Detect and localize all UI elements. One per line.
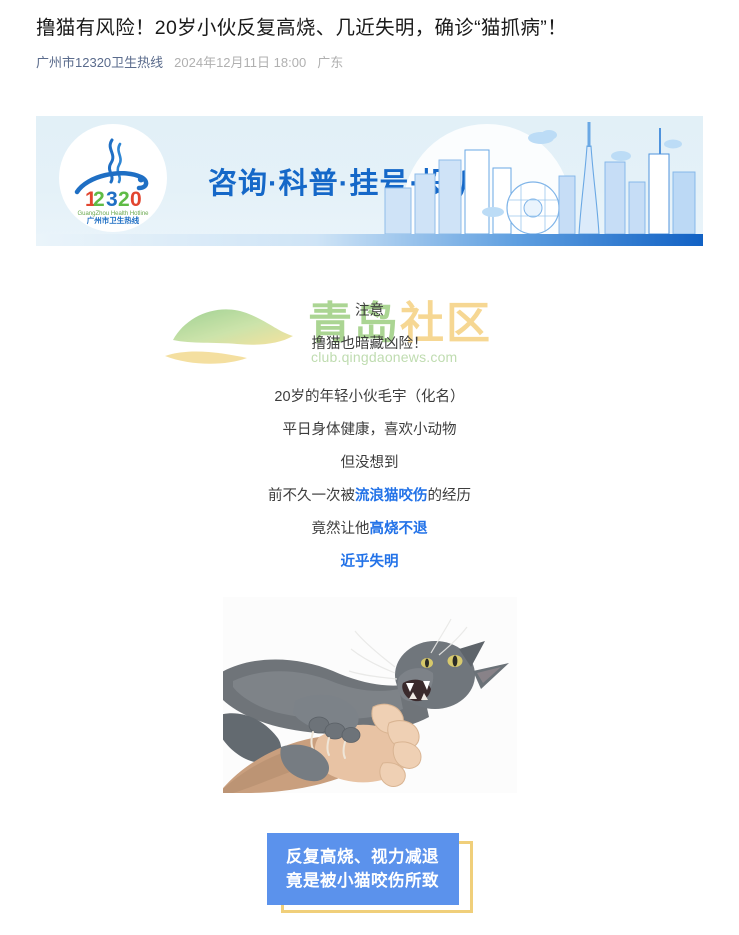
body-line-4: 平日身体健康，喜欢小动物 xyxy=(0,414,739,447)
callout-banner: 反复高烧、视力减退 竟是被小猫咬伤所致 xyxy=(267,833,473,913)
article-body: 注意 撸猫也暗藏凶险！ 20岁的年轻小伙毛宇（化名） 青岛社区 club.qin… xyxy=(0,295,739,579)
body-line-7-highlight: 高烧不退 xyxy=(370,521,428,537)
body-line-6: 前不久一次被流浪猫咬伤的经历 xyxy=(0,480,739,513)
svg-text:2: 2 xyxy=(118,188,130,211)
guangzhou-skyline-illustration xyxy=(373,116,703,234)
callout-box: 反复高烧、视力减退 竟是被小猫咬伤所致 xyxy=(267,833,459,905)
logo-12320-icon: 1 2 3 2 0 GuangZhou Health Hotline 广州市卫生… xyxy=(65,130,161,226)
svg-text:0: 0 xyxy=(130,188,142,211)
cat-bite-illustration xyxy=(223,597,517,793)
body-line-3: 20岁的年轻小伙毛宇（化名） xyxy=(0,381,739,414)
hotline-banner-image: 1 2 3 2 0 GuangZhou Health Hotline 广州市卫生… xyxy=(36,116,703,246)
callout-line-2: 竟是被小猫咬伤所致 xyxy=(286,872,439,891)
body-line-6-post: 的经历 xyxy=(428,488,472,504)
article-meta: 广州市12320卫生热线 2024年12月11日 18:00 广东 xyxy=(36,56,703,69)
cat-bite-photo xyxy=(223,597,517,793)
body-line-7: 竟然让他高烧不退 xyxy=(0,513,739,546)
hotline-logo: 1 2 3 2 0 GuangZhou Health Hotline 广州市卫生… xyxy=(59,124,167,232)
meta-source-link[interactable]: 广州市12320卫生热线 xyxy=(36,56,163,69)
banner-gradient-baseline xyxy=(36,234,703,246)
body-line-1: 注意 xyxy=(0,295,739,328)
svg-text:3: 3 xyxy=(106,188,118,211)
body-line-8: 近乎失明 xyxy=(0,546,739,579)
banner-container: 1 2 3 2 0 GuangZhou Health Hotline 广州市卫生… xyxy=(36,116,703,246)
body-line-7-pre: 竟然让他 xyxy=(312,521,370,537)
meta-timestamp: 2024年12月11日 18:00 xyxy=(174,56,306,69)
page-title: 撸猫有风险！20岁小伙反复高烧、几近失明，确诊“猫抓病”！ xyxy=(36,14,703,43)
meta-region: 广东 xyxy=(317,56,343,69)
body-line-6-pre: 前不久一次被 xyxy=(268,488,355,504)
body-line-6-highlight: 流浪猫咬伤 xyxy=(355,488,428,504)
article-header: 撸猫有风险！20岁小伙反复高烧、几近失明，确诊“猫抓病”！ 广州市12320卫生… xyxy=(0,0,739,69)
svg-text:2: 2 xyxy=(93,188,105,211)
callout-line-1: 反复高烧、视力减退 xyxy=(286,848,439,867)
body-line-5: 但没想到 xyxy=(0,447,739,480)
svg-text:广州市卫生热线: 广州市卫生热线 xyxy=(87,215,140,225)
body-line-2: 撸猫也暗藏凶险！ xyxy=(0,328,739,361)
